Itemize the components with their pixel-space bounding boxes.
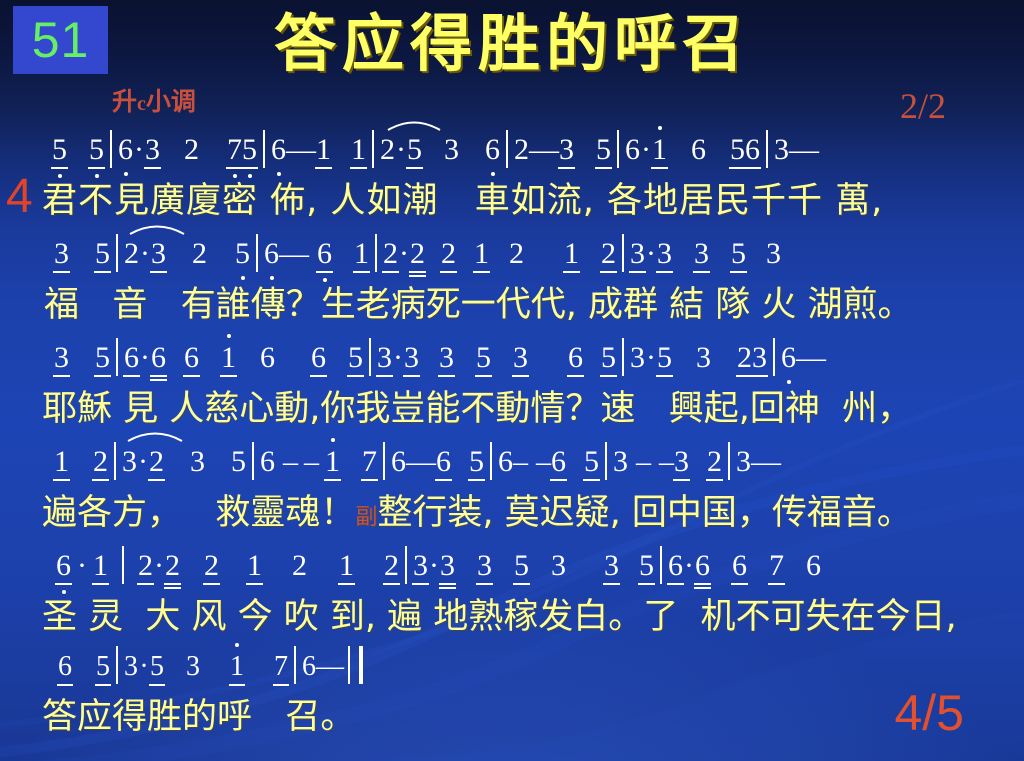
barline — [116, 646, 118, 684]
note: 3 — [440, 546, 455, 586]
note: 7 — [362, 442, 377, 482]
barline — [114, 442, 116, 480]
note: 6 — [264, 234, 279, 274]
note: 6 — [781, 338, 796, 378]
note: 6 — [498, 442, 513, 482]
note: 2 — [410, 234, 425, 274]
key-signature-mode: 小调 — [146, 87, 196, 116]
note: 5 — [95, 234, 110, 274]
hold-dash: – — [659, 442, 674, 482]
barline — [294, 646, 296, 684]
note: 3 — [559, 130, 574, 170]
note: 3 — [613, 442, 628, 482]
note: 2 — [601, 234, 616, 274]
barline — [766, 130, 768, 168]
barline — [372, 130, 374, 168]
key-signature: 升c小调 — [112, 88, 196, 118]
hold-dash: – — [811, 338, 826, 378]
note: 5 — [231, 442, 246, 482]
barline — [622, 338, 624, 376]
note: 3 — [630, 234, 645, 274]
note: 6 — [668, 546, 683, 586]
note: 6 — [625, 130, 640, 170]
hold-dash: – — [804, 130, 819, 170]
dotted-rhythm: · — [645, 338, 657, 378]
note: 5 — [514, 546, 529, 586]
note: 3 — [377, 338, 392, 378]
hold-dash: – — [294, 234, 309, 274]
barline — [369, 338, 371, 376]
barline — [383, 442, 385, 480]
barline — [263, 130, 265, 168]
note: 1 — [230, 647, 244, 687]
note: 3 — [444, 130, 459, 170]
note: 6 — [118, 130, 133, 170]
note: 6 — [485, 130, 500, 170]
note: 3 — [413, 546, 428, 586]
note: 3 — [766, 234, 781, 274]
system-line-1: 556·32756––112·5362––356·16563–– 君不見廣廈密 … — [0, 130, 1024, 234]
barline — [506, 130, 508, 168]
note: 6 — [56, 546, 71, 586]
chorus-marker: 副 — [355, 505, 377, 530]
note: 2 — [124, 234, 139, 274]
note: 6 — [58, 647, 72, 687]
dotted-rhythm: · — [640, 130, 652, 170]
dotted-rhythm: · — [71, 546, 93, 586]
hold-dash: – — [406, 442, 421, 482]
note: 6 — [317, 234, 332, 274]
system-line-4: 123·2356––176––656––653––323–– 遍各方， 救靈魂！… — [0, 442, 1024, 546]
page-title: 答应得胜的呼召 — [0, 8, 1024, 80]
note: 6 — [695, 546, 710, 586]
note: 3 — [736, 442, 751, 482]
barline — [773, 338, 775, 376]
barline — [605, 442, 607, 480]
note: 5 — [596, 130, 611, 170]
note: 3 — [54, 234, 69, 274]
note: 3 — [404, 338, 419, 378]
barline — [617, 130, 619, 168]
note: 1 — [316, 130, 331, 170]
dotted-rhythm: · — [138, 647, 150, 687]
note: 5 — [469, 442, 484, 482]
lyrics-line-3: 耶穌 見 人慈心動,你我豈能不動情？速 興起,回神 州， — [0, 384, 1024, 440]
note: 1 — [325, 442, 340, 482]
note: 2 — [204, 546, 219, 586]
hold-dash: – — [796, 338, 811, 378]
barline — [490, 442, 492, 480]
music-systems: 556·32756––112·5362––356·16563–– 君不見廣廈密 … — [0, 130, 1024, 761]
notation-line-3: 356·6616653·3353653·53236–– — [0, 338, 1024, 384]
note: 6 — [568, 338, 583, 378]
note: 5 — [242, 130, 257, 170]
note: 5 — [731, 234, 746, 274]
barline — [116, 234, 118, 272]
system-line-6: 653·53176–– 答应得胜的呼 召。 — [0, 646, 1024, 761]
note: 5 — [584, 442, 599, 482]
note: 2 — [192, 234, 207, 274]
dotted-rhythm: · — [133, 130, 145, 170]
note: 1 — [247, 546, 262, 586]
note: 6 — [260, 338, 275, 378]
note: 5 — [476, 338, 491, 378]
note: 2 — [514, 130, 529, 170]
note: 5 — [95, 338, 110, 378]
lyrics-line-6: 答应得胜的呼 召。 — [0, 692, 1024, 748]
note: 2 — [165, 546, 180, 586]
notation-line-6: 653·53176–– — [0, 646, 1024, 692]
note: 6 — [271, 130, 286, 170]
note: 2 — [441, 234, 456, 274]
hold-dash: – — [279, 234, 294, 274]
note: 2 — [737, 338, 752, 378]
dotted-rhythm: · — [137, 442, 149, 482]
note: 3 — [122, 442, 137, 482]
barline — [116, 338, 118, 376]
note: 6 — [551, 442, 566, 482]
note: 3 — [694, 234, 709, 274]
hold-dash: – — [286, 130, 301, 170]
hold-dash: – — [529, 130, 544, 170]
note: 3 — [551, 546, 566, 586]
note: 5 — [52, 130, 67, 170]
dotted-rhythm: · — [395, 130, 407, 170]
dotted-rhythm: · — [392, 338, 404, 378]
barline — [110, 130, 112, 168]
note: 3 — [186, 647, 200, 687]
note: 5 — [96, 647, 110, 687]
lyrics-line-2: 福 音 有誰傳？生老病死一代代, 成群 結 隊 火 湖煎。 — [0, 280, 1024, 336]
barline — [256, 234, 258, 272]
note: 5 — [348, 338, 363, 378]
note: 7 — [227, 130, 242, 170]
note: 2 — [707, 442, 722, 482]
hold-dash: – — [751, 442, 766, 482]
note: 1 — [54, 442, 69, 482]
hold-dash: – — [636, 442, 651, 482]
hold-dash: – — [283, 442, 298, 482]
note: 2 — [93, 442, 108, 482]
note: 1 — [652, 130, 667, 170]
barline — [660, 546, 662, 584]
system-line-3: 356·6616653·3353653·53236–– 耶穌 見 人慈心動,你我… — [0, 338, 1024, 442]
key-signature-sharp: 升 — [112, 87, 137, 116]
notation-line-4: 123·2356––176––656––653––323–– — [0, 442, 1024, 488]
hold-dash: – — [301, 130, 316, 170]
note: 5 — [407, 130, 422, 170]
note: 6 — [260, 442, 275, 482]
note: 6 — [151, 338, 166, 378]
note: 2 — [184, 130, 199, 170]
note: 3 — [513, 338, 528, 378]
hold-dash: – — [789, 130, 804, 170]
hold-dash: – — [536, 442, 551, 482]
note: 2 — [383, 234, 398, 274]
final-barline — [348, 646, 363, 684]
note: 6 — [311, 338, 326, 378]
notation-line-2: 352·3256––612·2212123·3353 — [0, 234, 1024, 280]
note: 2 — [149, 442, 164, 482]
notation-line-5: 6·12·2212123·3353356·6676 — [0, 546, 1024, 592]
note: 3 — [145, 130, 160, 170]
note: 3 — [190, 442, 205, 482]
note: 7 — [769, 546, 784, 586]
note: 6 — [732, 546, 747, 586]
barline — [622, 234, 624, 272]
note: 3 — [151, 234, 166, 274]
barline — [375, 234, 377, 272]
notation-line-1: 556·32756––112·5362––356·16563–– — [0, 130, 1024, 176]
note: 3 — [752, 338, 767, 378]
hold-dash: – — [304, 442, 319, 482]
note: 3 — [604, 546, 619, 586]
note: 6 — [436, 442, 451, 482]
barline — [252, 442, 254, 480]
note: 6 — [806, 546, 821, 586]
hold-dash: – — [330, 647, 344, 687]
hold-dash: – — [316, 647, 330, 687]
hold-dash: – — [766, 442, 781, 482]
note: 5 — [601, 338, 616, 378]
dotted-rhythm: · — [139, 338, 151, 378]
note: 5 — [235, 234, 250, 274]
note: 3 — [674, 442, 689, 482]
note: 5 — [89, 130, 104, 170]
note: 3 — [439, 338, 454, 378]
note: 1 — [351, 130, 366, 170]
key-signature-letter: c — [137, 93, 146, 115]
note: 5 — [730, 130, 745, 170]
note: 1 — [93, 546, 108, 586]
note: 2 — [509, 234, 524, 274]
note: 2 — [380, 130, 395, 170]
note: 6 — [124, 338, 139, 378]
hold-dash: – — [544, 130, 559, 170]
dotted-rhythm: · — [645, 234, 657, 274]
barline — [405, 546, 407, 584]
note: 3 — [774, 130, 789, 170]
note: 6 — [302, 647, 316, 687]
hold-dash: – — [421, 442, 436, 482]
note: 3 — [696, 338, 711, 378]
dotted-rhythm: · — [398, 234, 410, 274]
dotted-rhythm: · — [153, 546, 165, 586]
hold-dash: – — [513, 442, 528, 482]
note: 1 — [221, 338, 236, 378]
dotted-rhythm: · — [683, 546, 695, 586]
note: 1 — [354, 234, 369, 274]
dotted-rhythm: · — [139, 234, 151, 274]
note: 2 — [292, 546, 307, 586]
system-line-2: 352·3256––612·2212123·3353 福 音 有誰傳？生老病死一… — [0, 234, 1024, 338]
note: 5 — [639, 546, 654, 586]
note: 3 — [657, 234, 672, 274]
note: 6 — [184, 338, 199, 378]
system-line-5: 6·12·2212123·3353356·6676 圣 灵 大 风 今 吹 到,… — [0, 546, 1024, 646]
note: 2 — [138, 546, 153, 586]
note: 7 — [274, 647, 288, 687]
note: 3 — [124, 647, 138, 687]
note: 5 — [150, 647, 164, 687]
barline — [122, 546, 124, 584]
note: 3 — [477, 546, 492, 586]
slide-background: 51 答应得胜的呼召 升c小调 2/2 4 4/5 556·32756––112… — [0, 0, 1024, 761]
note: 3 — [630, 338, 645, 378]
dotted-rhythm: · — [428, 546, 440, 586]
note: 1 — [564, 234, 579, 274]
lyrics-line-1: 君不見廣廈密 佈, 人如潮 車如流, 各地居民千千 萬, — [0, 176, 1024, 232]
note: 3 — [54, 338, 69, 378]
note: 5 — [657, 338, 672, 378]
barline — [728, 442, 730, 480]
lyrics-line-5: 圣 灵 大 风 今 吹 到, 遍 地熟稼发白。了 机不可失在今日, — [0, 592, 1024, 648]
note: 1 — [474, 234, 489, 274]
lyrics-line-4: 遍各方， 救靈魂！副整行装, 莫迟疑, 回中国，传福音。 — [0, 488, 1024, 544]
note: 6 — [745, 130, 760, 170]
note: 6 — [391, 442, 406, 482]
note: 1 — [339, 546, 354, 586]
note: 2 — [384, 546, 399, 586]
note: 6 — [691, 130, 706, 170]
time-signature: 2/2 — [900, 86, 946, 126]
